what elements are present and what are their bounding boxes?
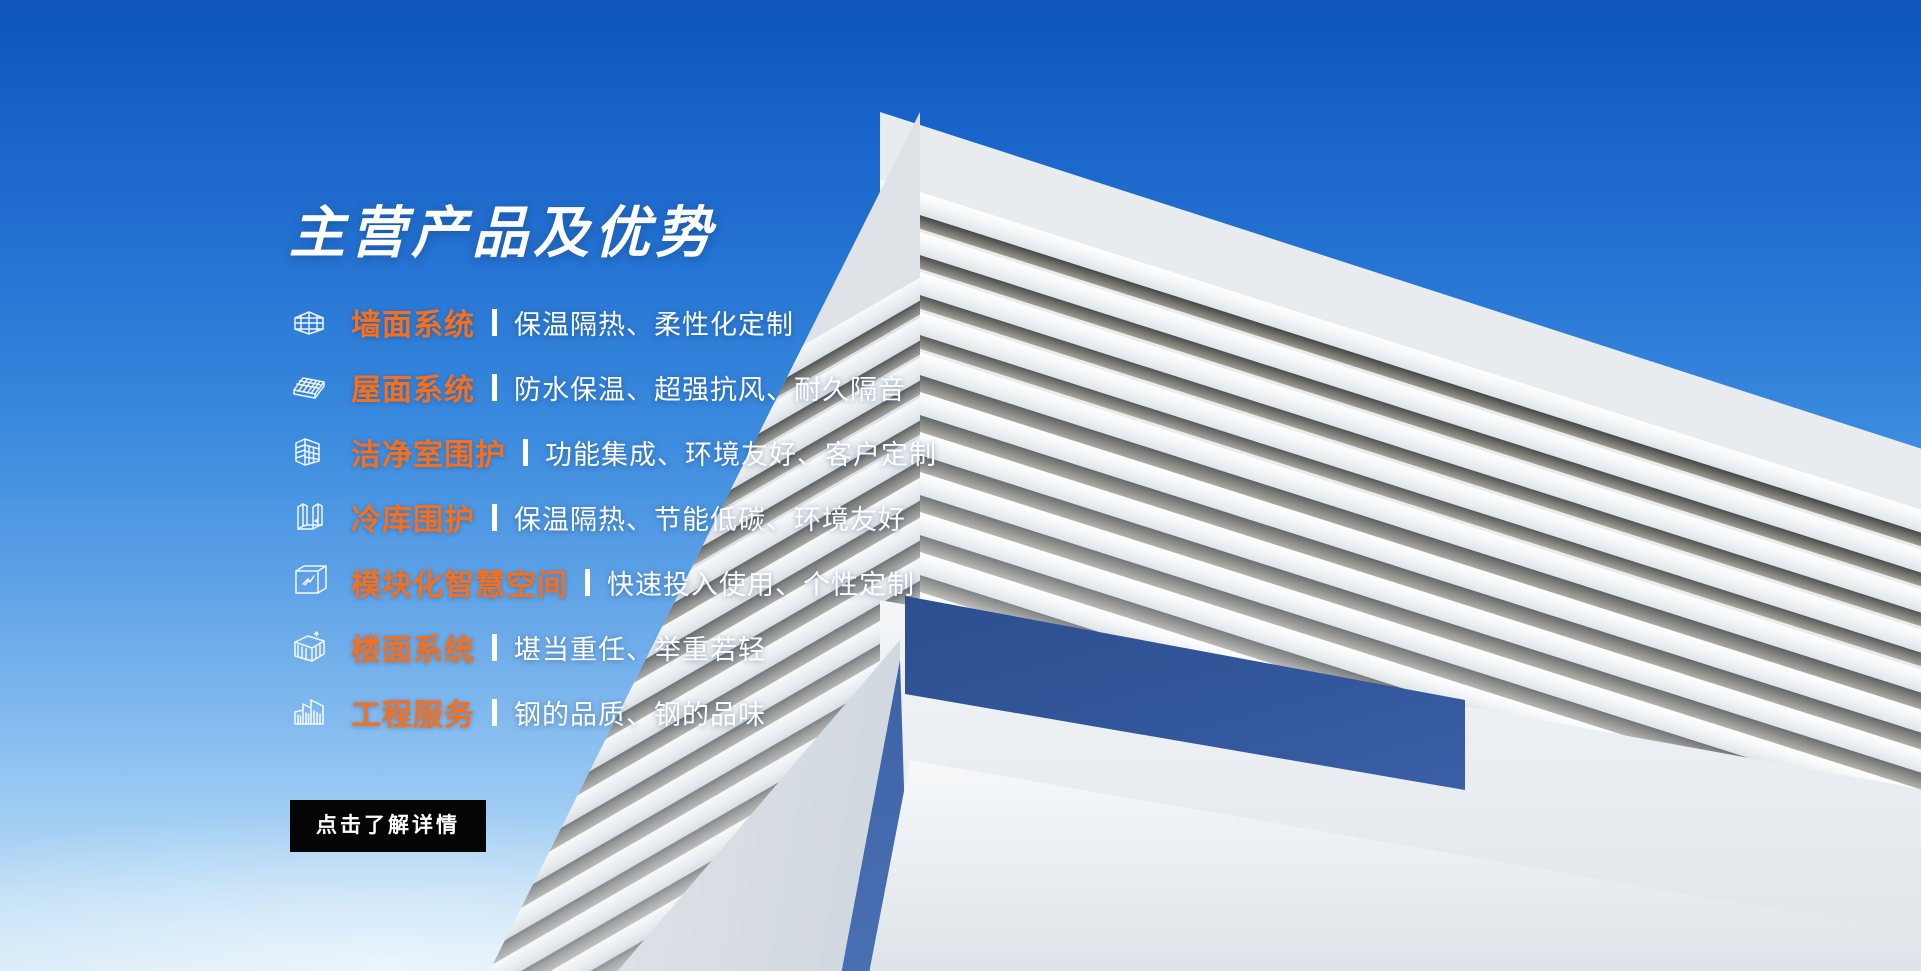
roof-panel-icon — [289, 367, 329, 407]
separator-bar — [492, 634, 497, 661]
product-description: 堪当重任、举重若轻 — [514, 628, 766, 667]
page-title: 主营产品及优势 — [289, 205, 716, 261]
separator-bar — [523, 439, 528, 466]
content-panel: 主营产品及优势 墙面系统保温隔热、柔性化定制 屋面系统防水保温、超强抗风、耐久隔… — [0, 0, 1921, 971]
product-description: 钢的品质、钢的品味 — [514, 693, 766, 732]
product-description: 快速投入使用、个性定制 — [607, 563, 915, 602]
separator-bar — [492, 699, 497, 726]
cold-storage-icon — [289, 497, 329, 537]
product-row[interactable]: 屋面系统防水保温、超强抗风、耐久隔音 — [289, 365, 937, 409]
product-row[interactable]: 冷库围护保温隔热、节能低碳、环境友好 — [289, 495, 937, 539]
product-label: 楼面系统 — [351, 625, 475, 669]
product-list: 墙面系统保温隔热、柔性化定制 屋面系统防水保温、超强抗风、耐久隔音 洁净室围护功… — [289, 300, 937, 755]
separator-bar — [585, 569, 590, 596]
hero-banner: 主营产品及优势 墙面系统保温隔热、柔性化定制 屋面系统防水保温、超强抗风、耐久隔… — [0, 0, 1921, 971]
product-label: 模块化智慧空间 — [351, 560, 568, 604]
learn-more-button[interactable]: 点击了解详情 — [290, 800, 486, 852]
product-label: 冷库围护 — [351, 495, 475, 539]
product-row[interactable]: 楼面系统堪当重任、举重若轻 — [289, 625, 937, 669]
separator-bar — [492, 309, 497, 336]
product-description: 保温隔热、柔性化定制 — [514, 303, 794, 342]
modular-space-icon — [289, 562, 329, 602]
product-description: 功能集成、环境友好、客户定制 — [545, 433, 937, 472]
engineering-icon — [289, 692, 329, 732]
cleanroom-icon — [289, 432, 329, 472]
product-label: 屋面系统 — [351, 365, 475, 409]
product-row[interactable]: 墙面系统保温隔热、柔性化定制 — [289, 300, 937, 344]
product-description: 防水保温、超强抗风、耐久隔音 — [514, 368, 906, 407]
product-label: 洁净室围护 — [351, 430, 506, 474]
product-description: 保温隔热、节能低碳、环境友好 — [514, 498, 906, 537]
product-row[interactable]: 洁净室围护功能集成、环境友好、客户定制 — [289, 430, 937, 474]
separator-bar — [492, 374, 497, 401]
product-row[interactable]: 模块化智慧空间快速投入使用、个性定制 — [289, 560, 937, 604]
product-row[interactable]: 工程服务钢的品质、钢的品味 — [289, 690, 937, 734]
floor-system-icon — [289, 627, 329, 667]
separator-bar — [492, 504, 497, 531]
product-label: 墙面系统 — [351, 300, 475, 344]
product-label: 工程服务 — [351, 690, 475, 734]
wall-panel-icon — [289, 302, 329, 342]
